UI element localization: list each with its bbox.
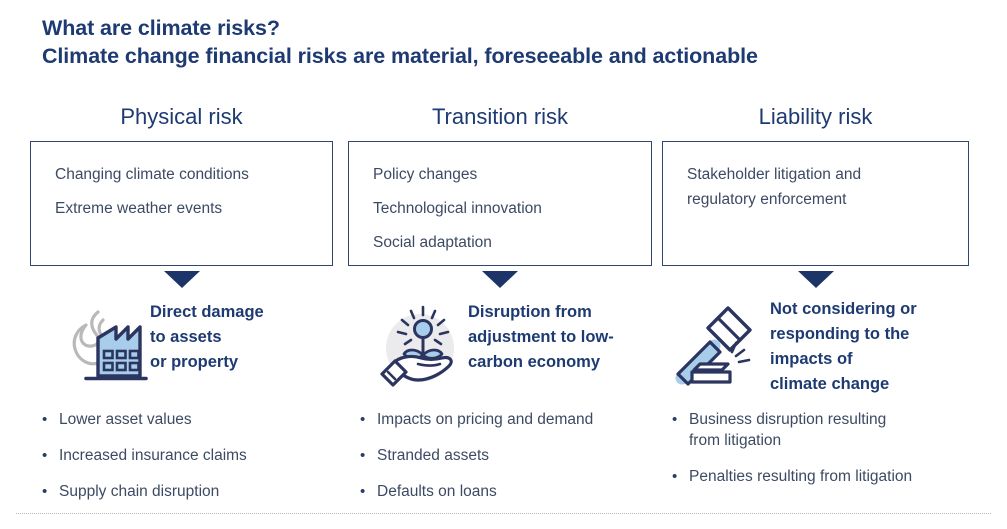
list-item: Penalties resulting from litigation bbox=[672, 466, 969, 487]
gavel-icon bbox=[670, 298, 766, 394]
list-item: Increased insurance claims bbox=[42, 445, 333, 466]
caption-line: or property bbox=[150, 350, 333, 375]
list-item: Defaults on loans bbox=[360, 481, 652, 502]
risk-box-item: Social adaptation bbox=[373, 226, 651, 260]
risk-box-transition: Policy changes Technological innovation … bbox=[348, 141, 652, 266]
down-triangle-icon bbox=[798, 271, 834, 288]
list-item: Business disruption resulting from litig… bbox=[672, 409, 969, 451]
risk-columns: Physical risk Changing climate condition… bbox=[0, 0, 1007, 529]
column-heading-physical: Physical risk bbox=[30, 103, 333, 131]
caption-line: carbon economy bbox=[468, 350, 652, 375]
bullet-list-physical: Lower asset values Increased insurance c… bbox=[42, 409, 333, 517]
caption-line: adjustment to low- bbox=[468, 325, 652, 350]
list-item-line: Stranded assets bbox=[377, 445, 652, 466]
caption-line: impacts of bbox=[770, 347, 969, 372]
list-item-line: Defaults on loans bbox=[377, 481, 652, 502]
list-item: Lower asset values bbox=[42, 409, 333, 430]
list-item: Supply chain disruption bbox=[42, 481, 333, 502]
caption-line: responding to the bbox=[770, 322, 969, 347]
column-heading-liability: Liability risk bbox=[662, 103, 969, 131]
caption-line: to assets bbox=[150, 325, 333, 350]
risk-box-item: Stakeholder litigation and bbox=[687, 162, 968, 187]
caption-line: Not considering or bbox=[770, 297, 969, 322]
risk-box-item: Policy changes bbox=[373, 158, 651, 192]
list-item-line: from litigation bbox=[689, 430, 969, 451]
caption-line: climate change bbox=[770, 372, 969, 397]
footer-divider bbox=[16, 513, 991, 514]
risk-box-item: Extreme weather events bbox=[55, 192, 332, 226]
risk-box-physical: Changing climate conditions Extreme weat… bbox=[30, 141, 333, 266]
list-item: Impacts on pricing and demand bbox=[360, 409, 652, 430]
caption-line: Direct damage bbox=[150, 300, 333, 325]
icon-caption-row-transition: Disruption from adjustment to low- carbo… bbox=[348, 298, 652, 394]
bullet-list-liability: Business disruption resulting from litig… bbox=[672, 409, 969, 502]
risk-box-liability: Stakeholder litigation and regulatory en… bbox=[662, 141, 969, 266]
bullet-list-transition: Impacts on pricing and demand Stranded a… bbox=[360, 409, 652, 517]
down-triangle-icon bbox=[164, 271, 200, 288]
risk-box-item: regulatory enforcement bbox=[687, 187, 968, 212]
list-item-line: Impacts on pricing and demand bbox=[377, 409, 652, 430]
icon-caption-liability: Not considering or responding to the imp… bbox=[770, 297, 969, 397]
risk-box-item: Technological innovation bbox=[373, 192, 651, 226]
icon-caption-physical: Direct damage to assets or property bbox=[150, 300, 333, 375]
icon-caption-transition: Disruption from adjustment to low- carbo… bbox=[468, 300, 652, 375]
list-item-line: Penalties resulting from litigation bbox=[689, 466, 969, 487]
list-item-line: Supply chain disruption bbox=[59, 481, 333, 502]
list-item-line: Business disruption resulting bbox=[689, 409, 969, 430]
list-item: Stranded assets bbox=[360, 445, 652, 466]
icon-caption-row-liability: Not considering or responding to the imp… bbox=[662, 298, 969, 394]
column-heading-transition: Transition risk bbox=[348, 103, 652, 131]
icon-caption-row-physical: Direct damage to assets or property bbox=[30, 298, 333, 394]
list-item-line: Lower asset values bbox=[59, 409, 333, 430]
factory-flame-icon bbox=[56, 298, 152, 394]
list-item-line: Increased insurance claims bbox=[59, 445, 333, 466]
caption-line: Disruption from bbox=[468, 300, 652, 325]
risk-box-item: Changing climate conditions bbox=[55, 158, 332, 192]
down-triangle-icon bbox=[482, 271, 518, 288]
hand-holding-sun-sprout-icon bbox=[374, 298, 470, 394]
